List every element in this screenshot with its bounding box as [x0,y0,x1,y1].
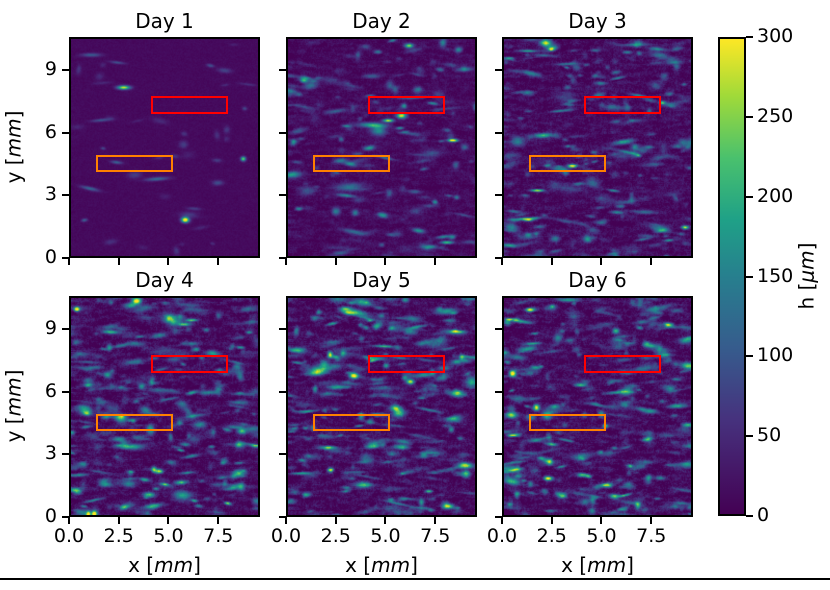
heatmap-day-5 [286,296,477,517]
heatmap-day-3 [502,37,693,258]
x-axis-label-day-5: x [mm] [286,553,477,577]
y-tick-day-1-2 [62,132,69,134]
x-tick-day-1-0 [68,258,70,265]
y-tick-day-4-3 [62,328,69,330]
figure-bottom-rule [0,578,830,580]
panel-day-4: Day 40.02.55.07.5x [mm]0369y [mm] [69,296,260,517]
heatmap-canvas-day-6 [504,298,691,515]
y-axis-label-day-1: y [mm] [1,36,25,257]
axis-label-units: mm [1,118,25,157]
x-tick-day-2-1 [335,258,337,265]
heatmap-day-2 [286,37,477,258]
heatmap-canvas-day-5 [288,298,475,515]
y-tick-day-6-1 [495,453,502,455]
y-tick-day-5-1 [279,453,286,455]
y-tick-day-4-0 [62,516,69,518]
y-tick-day-1-0 [62,257,69,259]
x-tick-day-6-2 [600,517,602,524]
panel-day-3: Day 3 [502,37,693,258]
y-tick-day-6-0 [495,516,502,518]
panel-day-6: Day 60.02.55.07.5x [mm] [502,296,693,517]
colorbar-tick-2 [746,355,753,357]
x-tick-day-4-1 [118,517,120,524]
y-tick-day-3-0 [495,257,502,259]
y-axis-label-day-4: y [mm] [1,295,25,516]
colorbar-ticklabel-6: 300 [757,27,793,46]
x-tick-day-5-2 [384,517,386,524]
y-tick-day-6-3 [495,328,502,330]
y-tick-day-4-1 [62,453,69,455]
colorbar-ticklabel-2: 100 [757,346,793,365]
colorbar-ticklabel-0: 0 [757,506,769,525]
colorbar-label: h [μm] [794,36,818,515]
y-tick-day-4-2 [62,391,69,393]
y-tick-day-5-2 [279,391,286,393]
x-tick-day-6-0 [501,517,503,524]
x-tick-day-4-3 [217,517,219,524]
x-axis-label-day-4: x [mm] [69,553,260,577]
heatmap-day-4 [69,296,260,517]
x-tick-day-2-2 [384,258,386,265]
x-ticklabel-day-4-3: 7.5 [188,527,248,546]
colorbar-tick-0 [746,515,753,517]
colorbar-ticklabel-1: 50 [757,426,781,445]
colorbar-ticklabel-5: 250 [757,107,793,126]
heatmap-canvas-day-1 [71,39,258,256]
y-tick-day-5-3 [279,328,286,330]
x-tick-day-3-3 [650,258,652,265]
y-tick-day-6-2 [495,391,502,393]
y-tick-day-2-3 [279,69,286,71]
y-tick-day-3-2 [495,132,502,134]
axis-label-units: mm [1,377,25,416]
y-tick-day-1-3 [62,69,69,71]
y-tick-day-2-2 [279,132,286,134]
colorbar-tick-6 [746,36,753,38]
panel-title-day-4: Day 4 [69,267,260,293]
heatmap-canvas-day-4 [71,298,258,515]
x-tick-day-4-0 [68,517,70,524]
panel-title-day-3: Day 3 [502,8,693,34]
axis-label-units: mm [587,553,626,577]
colorbar-ticklabel-3: 150 [757,267,793,286]
axis-label-units: μm [794,250,818,282]
y-tick-day-2-1 [279,194,286,196]
heatmap-day-1 [69,37,260,258]
x-tick-day-5-0 [285,517,287,524]
y-tick-day-3-3 [495,69,502,71]
heatmap-day-6 [502,296,693,517]
y-tick-day-5-0 [279,516,286,518]
y-tick-day-2-0 [279,257,286,259]
colorbar-tick-4 [746,196,753,198]
heatmap-canvas-day-3 [504,39,691,256]
colorbar-tick-3 [746,276,753,278]
figure-canvas: Day 10369y [mm]Day 2Day 3Day 40.02.55.07… [0,0,830,590]
panel-title-day-1: Day 1 [69,8,260,34]
x-tick-day-5-1 [335,517,337,524]
colorbar-tick-1 [746,435,753,437]
x-tick-day-2-0 [285,258,287,265]
x-tick-day-6-1 [551,517,553,524]
x-tick-day-3-1 [551,258,553,265]
x-tick-day-1-2 [167,258,169,265]
axis-label-units: mm [154,553,193,577]
colorbar-tick-5 [746,116,753,118]
x-tick-day-3-2 [600,258,602,265]
x-tick-day-6-3 [650,517,652,524]
x-tick-day-3-0 [501,258,503,265]
colorbar: 050100150200250300h [μm] [718,37,746,516]
x-tick-day-2-3 [434,258,436,265]
axis-label-units: mm [371,553,410,577]
x-tick-day-1-3 [217,258,219,265]
panel-title-day-6: Day 6 [502,267,693,293]
x-ticklabel-day-5-3: 7.5 [405,527,465,546]
panel-day-2: Day 2 [286,37,477,258]
x-tick-day-4-2 [167,517,169,524]
colorbar-gradient [718,37,746,516]
colorbar-ticklabel-4: 200 [757,187,793,206]
x-ticklabel-day-6-3: 7.5 [621,527,681,546]
panel-title-day-2: Day 2 [286,8,477,34]
x-tick-day-1-1 [118,258,120,265]
heatmap-canvas-day-2 [288,39,475,256]
panel-day-5: Day 50.02.55.07.5x [mm] [286,296,477,517]
x-tick-day-5-3 [434,517,436,524]
panel-title-day-5: Day 5 [286,267,477,293]
x-axis-label-day-6: x [mm] [502,553,693,577]
y-tick-day-3-1 [495,194,502,196]
panel-day-1: Day 10369y [mm] [69,37,260,258]
y-tick-day-1-1 [62,194,69,196]
